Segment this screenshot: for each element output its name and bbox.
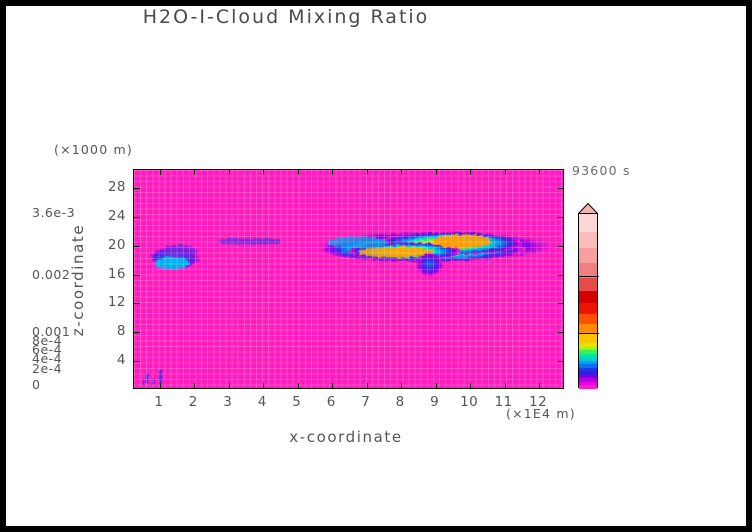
x-tick-top bbox=[367, 170, 368, 175]
x-axis-title: x-coordinate bbox=[126, 428, 566, 446]
x-axis-tick-label: 7 bbox=[351, 394, 381, 410]
x-tick-top bbox=[298, 170, 299, 175]
y-axis-tick-label: 28 bbox=[94, 179, 126, 195]
colorbar-segment bbox=[579, 324, 597, 334]
x-tick-top bbox=[332, 170, 333, 175]
colorbar-segments bbox=[578, 213, 598, 388]
x-tick-bottom bbox=[332, 383, 333, 388]
y-tick-left bbox=[134, 188, 140, 189]
colorbar-segment bbox=[579, 314, 597, 324]
y-tick-right bbox=[558, 303, 563, 304]
x-tick-bottom bbox=[505, 383, 506, 388]
y-axis-tick-label: 8 bbox=[94, 323, 126, 339]
y-tick-right bbox=[558, 246, 563, 247]
x-tick-top bbox=[401, 170, 402, 175]
y-tick-left bbox=[134, 217, 140, 218]
x-tick-top bbox=[194, 170, 195, 175]
x-axis-tick-label: 5 bbox=[282, 394, 312, 410]
colorbar-tick-label: 3.6e-3 bbox=[32, 205, 75, 220]
time-stamp-label: 93600 s bbox=[572, 163, 631, 178]
y-tick-right bbox=[558, 332, 563, 333]
x-tick-bottom bbox=[401, 383, 402, 388]
x-axis-tick-label: 2 bbox=[178, 394, 208, 410]
colorbar-segment bbox=[579, 303, 597, 314]
colorbar-tick-label: 0.002 bbox=[32, 267, 70, 282]
colorbar-segment bbox=[579, 214, 597, 232]
x-tick-bottom bbox=[160, 383, 161, 388]
y-tick-right bbox=[558, 275, 563, 276]
colorbar-segment bbox=[579, 291, 597, 303]
colorbar-segment bbox=[579, 385, 597, 389]
x-tick-top bbox=[436, 170, 437, 175]
x-tick-bottom bbox=[298, 383, 299, 388]
y-axis-tick-label: 20 bbox=[94, 237, 126, 253]
x-tick-bottom bbox=[263, 383, 264, 388]
colorbar-segment bbox=[579, 278, 597, 291]
colorbar-divider bbox=[579, 276, 599, 277]
y-tick-left bbox=[134, 275, 140, 276]
figure-canvas: H2O-I-Cloud Mixing Ratio (×1000 m) z-coo… bbox=[6, 6, 746, 526]
x-axis-tick-label: 8 bbox=[385, 394, 415, 410]
y-axis-unit-label: (×1000 m) bbox=[54, 142, 133, 157]
y-tick-left bbox=[134, 332, 140, 333]
contour-plot-area bbox=[133, 169, 564, 389]
scalar-field-rendering bbox=[134, 170, 563, 388]
colorbar-tick-label: 2e-4 bbox=[32, 361, 62, 376]
x-axis-tick-label: 9 bbox=[420, 394, 450, 410]
x-axis-tick-label: 10 bbox=[454, 394, 484, 410]
y-tick-right bbox=[558, 217, 563, 218]
colorbar-segment bbox=[579, 232, 597, 248]
y-axis-tick-label: 4 bbox=[94, 352, 126, 368]
x-tick-bottom bbox=[470, 383, 471, 388]
y-axis-tick-label: 12 bbox=[94, 294, 126, 310]
x-tick-bottom bbox=[436, 383, 437, 388]
y-tick-left bbox=[134, 246, 140, 247]
y-axis-tick-label: 16 bbox=[94, 266, 126, 282]
x-tick-bottom bbox=[539, 383, 540, 388]
colorbar-divider bbox=[579, 333, 599, 334]
y-tick-left bbox=[134, 361, 140, 362]
x-tick-bottom bbox=[229, 383, 230, 388]
x-axis-tick-label: 3 bbox=[213, 394, 243, 410]
y-axis-tick-label: 24 bbox=[94, 208, 126, 224]
y-tick-left bbox=[134, 303, 140, 304]
y-axis-title: z-coordinate bbox=[69, 200, 87, 360]
x-tick-top bbox=[160, 170, 161, 175]
x-tick-top bbox=[539, 170, 540, 175]
x-axis-tick-label: 11 bbox=[489, 394, 519, 410]
x-tick-top bbox=[470, 170, 471, 175]
x-axis-tick-label: 4 bbox=[247, 394, 277, 410]
x-tick-top bbox=[263, 170, 264, 175]
x-tick-bottom bbox=[367, 383, 368, 388]
x-tick-top bbox=[505, 170, 506, 175]
x-tick-top bbox=[229, 170, 230, 175]
x-axis-tick-label: 1 bbox=[144, 394, 174, 410]
page-title: H2O-I-Cloud Mixing Ratio bbox=[6, 6, 566, 28]
x-tick-bottom bbox=[194, 383, 195, 388]
x-axis-tick-label: 6 bbox=[316, 394, 346, 410]
y-tick-right bbox=[558, 361, 563, 362]
x-axis-tick-label: 12 bbox=[523, 394, 553, 410]
y-tick-right bbox=[558, 188, 563, 189]
colorbar-segment bbox=[579, 333, 597, 343]
colorbar-segment bbox=[579, 248, 597, 263]
colorbar-tick-label: 0 bbox=[32, 377, 40, 392]
